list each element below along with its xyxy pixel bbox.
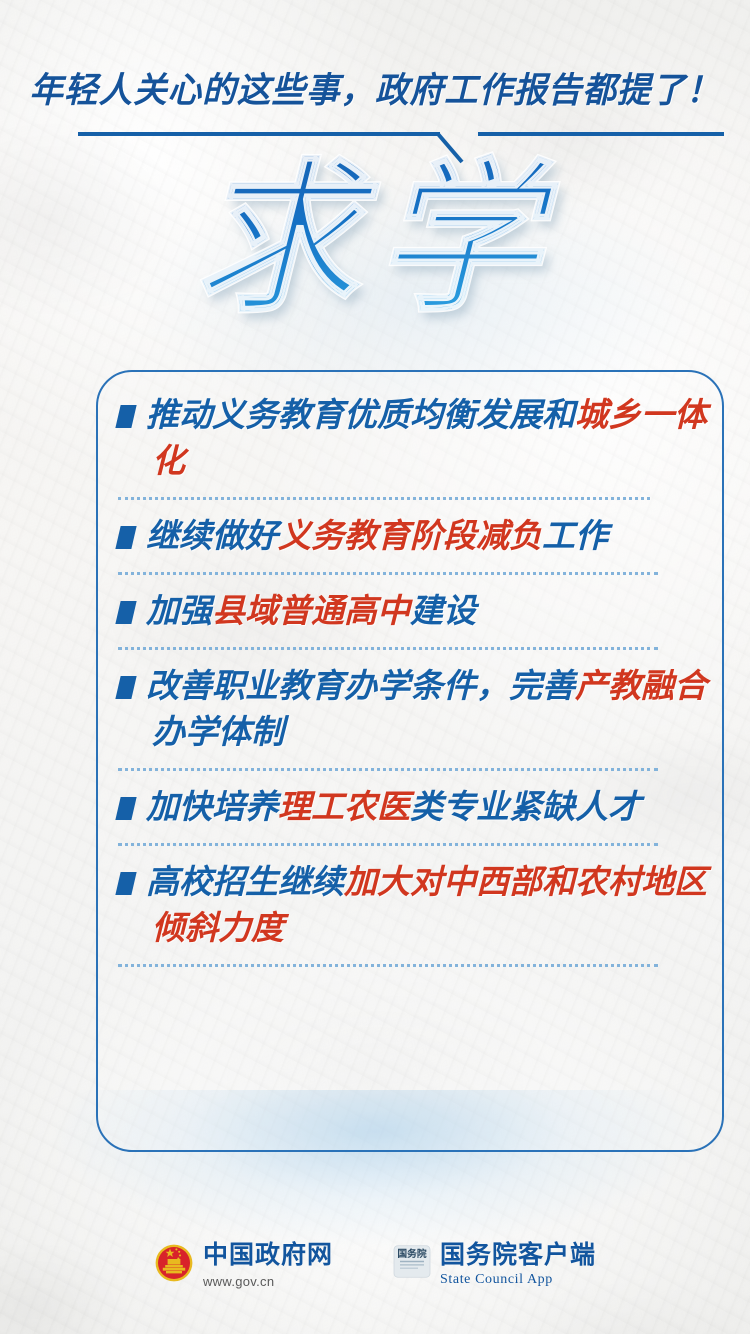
state-council-app-icon: 国务院 bbox=[393, 1245, 431, 1278]
state-council-brand-name: 国务院客户端 bbox=[440, 1243, 596, 1268]
list-item[interactable]: 加快培养理工农医类专业紧缺人才 bbox=[118, 784, 708, 830]
gov-brand-url: www.gov.cn bbox=[203, 1275, 333, 1288]
big-title-svg: 求学 求学 bbox=[0, 148, 750, 348]
segment-text-highlight: 县域普通高中 bbox=[212, 592, 410, 629]
list-item[interactable]: 加强县域普通高中建设 bbox=[118, 588, 708, 634]
square-bullet-icon bbox=[115, 526, 136, 549]
list-item-text: 加快培养理工农医类专业紧缺人才 bbox=[118, 784, 708, 830]
segment-text-highlight: 义务教育阶段减负 bbox=[278, 517, 542, 554]
segment-text: 加强 bbox=[146, 592, 212, 629]
segment-text-highlight: 理工农医 bbox=[278, 788, 410, 825]
list-item[interactable]: 改善职业教育办学条件，完善产教融合办学体制 bbox=[118, 663, 708, 755]
big-title: 求学 求学 bbox=[0, 148, 750, 348]
list-separator bbox=[118, 768, 658, 771]
segment-text-highlight: 产教融合 bbox=[575, 667, 707, 704]
square-bullet-icon bbox=[115, 405, 136, 428]
square-bullet-icon bbox=[115, 601, 136, 624]
square-bullet-icon bbox=[115, 676, 136, 699]
list-item-text: 高校招生继续加大对中西部和农村地区倾斜力度 bbox=[118, 859, 708, 951]
segment-text: 类专业紧缺人才 bbox=[410, 788, 641, 825]
segment-text: 改善职业教育办学条件，完善 bbox=[146, 667, 575, 704]
policy-list: 推动义务教育优质均衡发展和城乡一体化 继续做好义务教育阶段减负工作 加强县域普通… bbox=[118, 392, 708, 980]
segment-text: 高校招生继续 bbox=[146, 863, 344, 900]
list-item-text: 继续做好义务教育阶段减负工作 bbox=[118, 513, 708, 559]
segment-text: 继续做好 bbox=[146, 517, 278, 554]
list-separator bbox=[118, 964, 658, 967]
state-council-icon-label: 国务院 bbox=[397, 1247, 426, 1260]
list-separator bbox=[118, 497, 650, 500]
poster-canvas: 年轻人关心的这些事，政府工作报告都提了！ 求学 求学 bbox=[0, 0, 750, 1334]
list-item[interactable]: 推动义务教育优质均衡发展和城乡一体化 bbox=[118, 392, 708, 484]
state-council-brand[interactable]: 国务院 国务院客户端 State Council App bbox=[393, 1243, 596, 1287]
footer: 中国政府网 www.gov.cn 国务院 国务院客户端 State Counci… bbox=[0, 1243, 750, 1313]
segment-text: 建设 bbox=[410, 592, 476, 629]
gov-brand[interactable]: 中国政府网 www.gov.cn bbox=[154, 1243, 333, 1288]
list-item[interactable]: 继续做好义务教育阶段减负工作 bbox=[118, 513, 708, 559]
list-item-text: 推动义务教育优质均衡发展和城乡一体化 bbox=[118, 392, 708, 484]
list-separator bbox=[118, 843, 658, 846]
square-bullet-icon bbox=[115, 872, 136, 895]
list-separator bbox=[118, 572, 658, 575]
square-bullet-icon bbox=[115, 797, 136, 820]
big-title-highlight-stroke: 求学 bbox=[194, 148, 560, 335]
segment-text: 加快培养 bbox=[146, 788, 278, 825]
list-item-text: 改善职业教育办学条件，完善产教融合办学体制 bbox=[118, 663, 708, 755]
list-item-text: 加强县域普通高中建设 bbox=[118, 588, 708, 634]
gov-brand-name: 中国政府网 bbox=[203, 1243, 333, 1268]
segment-text: 工作 bbox=[542, 517, 608, 554]
segment-text: 办学体制 bbox=[152, 713, 284, 750]
list-item[interactable]: 高校招生继续加大对中西部和农村地区倾斜力度 bbox=[118, 859, 708, 951]
national-emblem-icon bbox=[154, 1243, 194, 1283]
list-separator bbox=[118, 647, 658, 650]
state-council-brand-subtitle: State Council App bbox=[440, 1273, 596, 1287]
segment-text: 推动义务教育优质均衡发展和 bbox=[146, 396, 575, 433]
page-headline: 年轻人关心的这些事，政府工作报告都提了！ bbox=[15, 62, 735, 113]
